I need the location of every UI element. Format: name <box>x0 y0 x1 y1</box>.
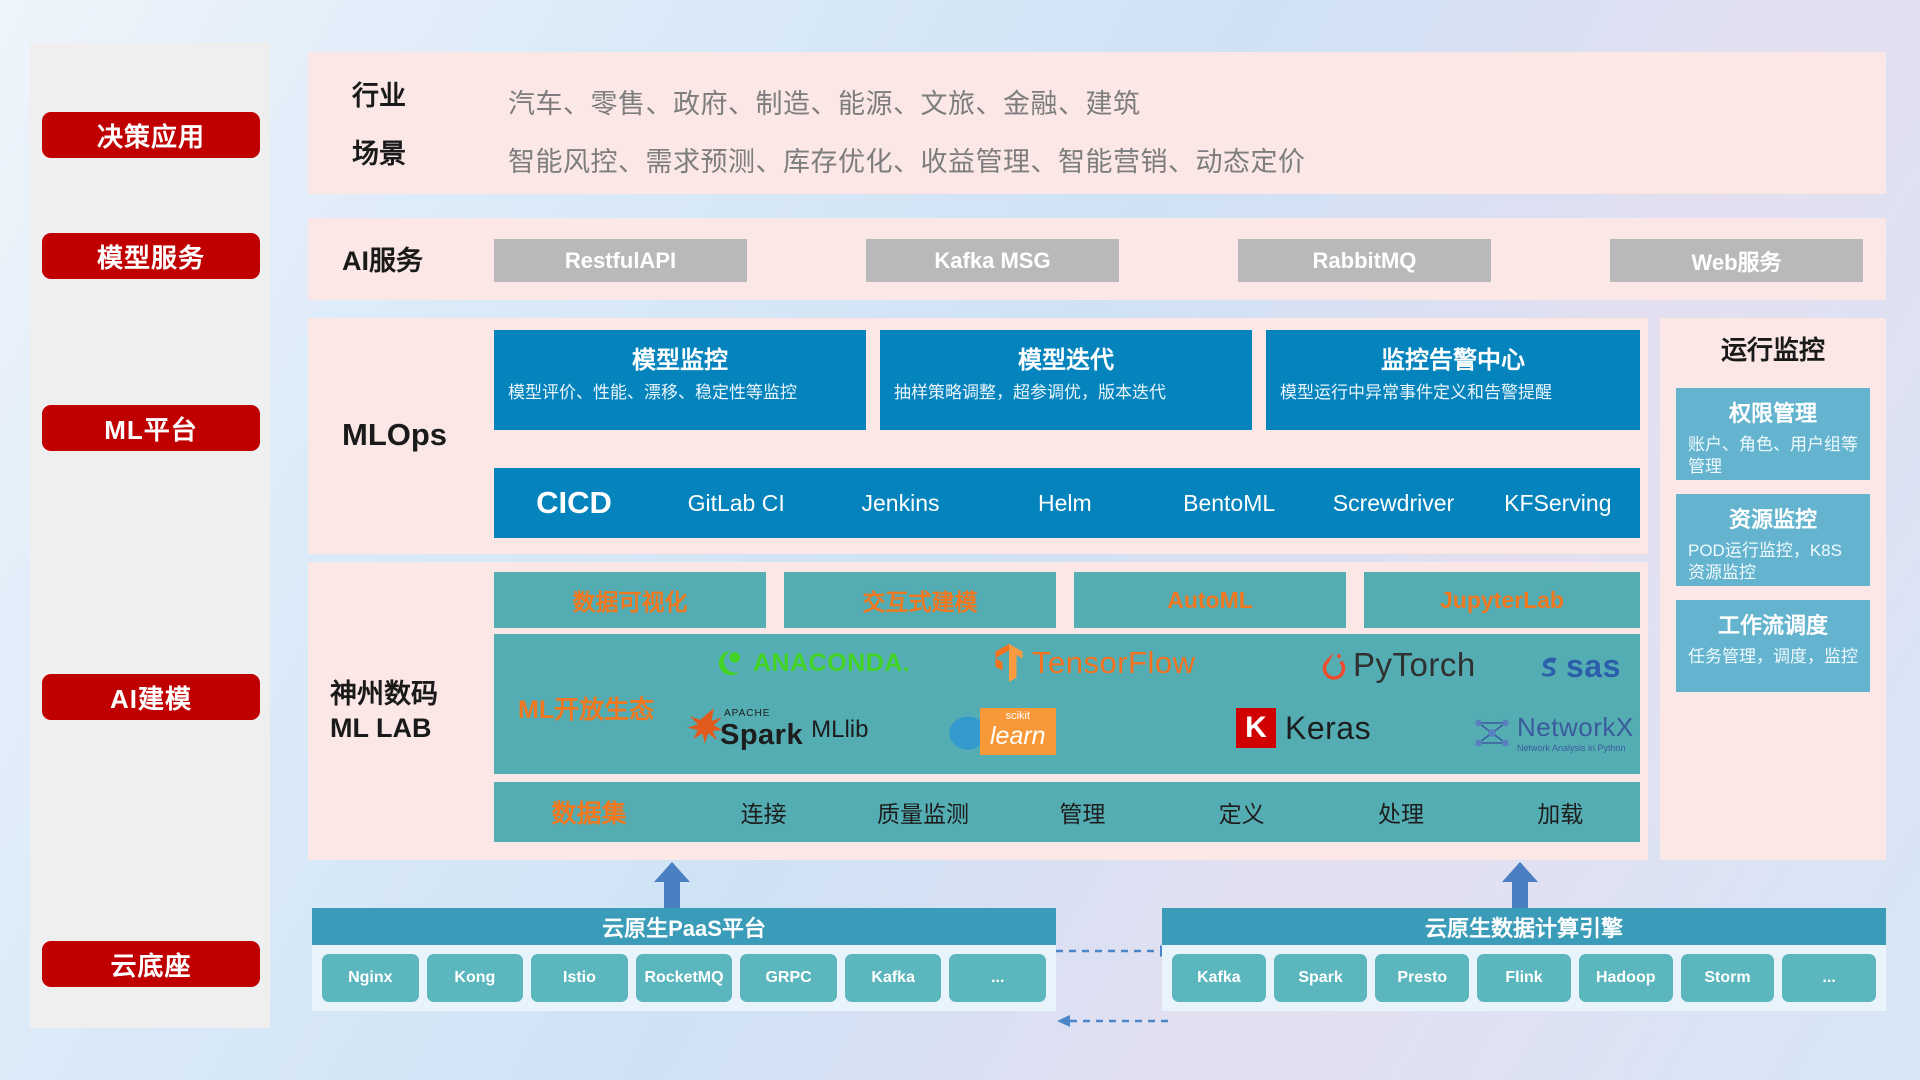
compute-chip-row: Kafka Spark Presto Flink Hadoop Storm ..… <box>1162 945 1886 1011</box>
spark-apache-text: APACHE <box>724 708 803 719</box>
compute-chip-spark[interactable]: Spark <box>1274 954 1368 1002</box>
anaconda-logo: ANACONDA. <box>716 648 910 678</box>
diagram-canvas: 决策应用 模型服务 ML平台 AI建模 云底座 行业 汽车、零售、政府、制造、能… <box>0 0 1920 1080</box>
service-chip-restfulapi[interactable]: RestfulAPI <box>494 239 747 282</box>
service-chip-web-service[interactable]: Web服务 <box>1610 239 1863 282</box>
sas-wordmark: sas <box>1566 648 1621 685</box>
cicd-item-kfserving[interactable]: KFServing <box>1476 491 1640 515</box>
tensorflow-wordmark: TensorFlow <box>1032 645 1196 681</box>
scikit-text: scikit <box>1006 710 1030 722</box>
spark-mllib-logo: APACHE Spark MLlib <box>684 706 868 754</box>
spark-wordmark: Spark <box>720 719 803 752</box>
dashed-arrow-left-icon <box>1056 1014 1174 1028</box>
tab-jupyterlab[interactable]: JupyterLab <box>1364 572 1640 628</box>
cicd-title: CICD <box>494 485 654 521</box>
paas-chip-rocketmq[interactable]: RocketMQ <box>636 954 733 1002</box>
paas-chip-kafka[interactable]: Kafka <box>845 954 942 1002</box>
tensorflow-logo: TensorFlow <box>992 644 1196 682</box>
paas-chip-grpc[interactable]: GRPC <box>740 954 837 1002</box>
paas-chip-nginx[interactable]: Nginx <box>322 954 419 1002</box>
card-desc: 抽样策略调整，超参调优，版本迭代 <box>894 382 1238 404</box>
rail-item-decision-app[interactable]: 决策应用 <box>42 112 260 158</box>
mlops-card-alert-center[interactable]: 监控告警中心 模型运行中异常事件定义和告警提醒 <box>1266 330 1640 430</box>
cicd-item-bentoml[interactable]: BentoML <box>1147 491 1311 515</box>
mlops-label: MLOps <box>342 416 447 455</box>
cicd-bar: CICD GitLab CI Jenkins Helm BentoML Scre… <box>494 468 1640 538</box>
scenario-label: 场景 <box>352 138 406 172</box>
service-chip-rabbitmq[interactable]: RabbitMQ <box>1238 239 1491 282</box>
card-desc: 模型运行中异常事件定义和告警提醒 <box>1280 382 1626 404</box>
networkx-logo: NetworkX Network Analysis in Python <box>1472 712 1634 753</box>
ops-panel-title: 运行监控 <box>1660 330 1886 367</box>
paas-group: 云原生PaaS平台 Nginx Kong Istio RocketMQ GRPC… <box>312 908 1056 1011</box>
rail-item-model-service[interactable]: 模型服务 <box>42 233 260 279</box>
ops-card-resource[interactable]: 资源监控 POD运行监控，K8S资源监控 <box>1676 494 1870 586</box>
networkx-wordmark: NetworkX <box>1517 712 1634 743</box>
paas-title: 云原生PaaS平台 <box>312 908 1056 945</box>
anaconda-icon <box>716 648 746 678</box>
up-arrow-paas-icon <box>652 862 692 908</box>
sas-logo: sas <box>1534 648 1621 685</box>
paas-chip-row: Nginx Kong Istio RocketMQ GRPC Kafka ... <box>312 945 1056 1011</box>
industry-list: 汽车、零售、政府、制造、能源、文旅、金融、建筑 <box>508 82 1141 121</box>
ml-ecosystem-box: ML开放生态 ANACONDA. TensorFlow <box>494 634 1640 774</box>
card-title: 模型监控 <box>508 340 852 375</box>
scikit-learn-logo: scikit learn <box>946 708 1056 755</box>
mlops-card-model-iteration[interactable]: 模型迭代 抽样策略调整，超参调优，版本迭代 <box>880 330 1252 430</box>
compute-chip-hadoop[interactable]: Hadoop <box>1579 954 1673 1002</box>
card-title: 工作流调度 <box>1688 608 1858 640</box>
dataset-item-load[interactable]: 加载 <box>1481 795 1640 829</box>
cicd-item-screwdriver[interactable]: Screwdriver <box>1311 491 1475 515</box>
paas-chip-kong[interactable]: Kong <box>427 954 524 1002</box>
compute-chip-kafka[interactable]: Kafka <box>1172 954 1266 1002</box>
tab-data-visualization[interactable]: 数据可视化 <box>494 572 766 628</box>
tab-automl[interactable]: AutoML <box>1074 572 1346 628</box>
sas-icon <box>1534 652 1564 682</box>
rail-item-cloud-base[interactable]: 云底座 <box>42 941 260 987</box>
card-desc: POD运行监控，K8S资源监控 <box>1688 540 1858 585</box>
mlops-card-model-monitoring[interactable]: 模型监控 模型评价、性能、漂移、稳定性等监控 <box>494 330 866 430</box>
dataset-item-process[interactable]: 处理 <box>1321 795 1480 829</box>
rail-item-ai-modeling[interactable]: AI建模 <box>42 674 260 720</box>
paas-chip-istio[interactable]: Istio <box>531 954 628 1002</box>
keras-wordmark: Keras <box>1285 710 1371 747</box>
cicd-item-gitlab-ci[interactable]: GitLab CI <box>654 491 818 515</box>
compute-chip-flink[interactable]: Flink <box>1477 954 1571 1002</box>
ecosystem-label: ML开放生态 <box>518 690 654 726</box>
card-title: 权限管理 <box>1688 396 1858 428</box>
card-title: 资源监控 <box>1688 502 1858 534</box>
service-chip-kafka-msg[interactable]: Kafka MSG <box>866 239 1119 282</box>
card-desc: 任务管理，调度，监控 <box>1688 646 1858 668</box>
card-desc: 模型评价、性能、漂移、稳定性等监控 <box>508 382 852 404</box>
tensorflow-icon <box>992 644 1026 682</box>
anaconda-wordmark: ANACONDA. <box>753 649 910 678</box>
networkx-icon <box>1472 715 1512 751</box>
ops-card-permission[interactable]: 权限管理 账户、角色、用户组等管理 <box>1676 388 1870 480</box>
dataset-item-connect[interactable]: 连接 <box>684 795 843 829</box>
learn-wordmark: learn <box>990 722 1046 751</box>
pytorch-logo: PyTorch <box>1320 646 1476 684</box>
compute-chip-more[interactable]: ... <box>1782 954 1876 1002</box>
card-title: 模型迭代 <box>894 340 1238 375</box>
rail-item-ml-platform[interactable]: ML平台 <box>42 405 260 451</box>
dataset-bar: 数据集 连接 质量监测 管理 定义 处理 加载 <box>494 782 1640 842</box>
cicd-item-helm[interactable]: Helm <box>983 491 1147 515</box>
compute-chip-presto[interactable]: Presto <box>1375 954 1469 1002</box>
compute-title: 云原生数据计算引擎 <box>1162 908 1886 945</box>
ops-card-workflow[interactable]: 工作流调度 任务管理，调度，监控 <box>1676 600 1870 692</box>
dataset-item-quality[interactable]: 质量监测 <box>843 795 1002 829</box>
compute-group: 云原生数据计算引擎 Kafka Spark Presto Flink Hadoo… <box>1162 908 1886 1011</box>
paas-chip-more[interactable]: ... <box>949 954 1046 1002</box>
scenario-list: 智能风控、需求预测、库存优化、收益管理、智能营销、动态定价 <box>508 140 1306 179</box>
keras-logo: K Keras <box>1236 708 1371 748</box>
compute-chip-storm[interactable]: Storm <box>1681 954 1775 1002</box>
card-title: 监控告警中心 <box>1280 340 1626 375</box>
pytorch-wordmark: PyTorch <box>1353 646 1476 684</box>
ai-service-label: AI服务 <box>342 245 423 279</box>
networkx-tagline: Network Analysis in Python <box>1517 743 1634 753</box>
dashed-arrow-right-icon <box>1056 944 1174 958</box>
up-arrow-compute-icon <box>1500 862 1540 908</box>
tab-interactive-modeling[interactable]: 交互式建模 <box>784 572 1056 628</box>
cicd-item-jenkins[interactable]: Jenkins <box>818 491 982 515</box>
ml-lab-label: 神州数码 ML LAB <box>330 678 438 746</box>
left-rail <box>30 42 270 1028</box>
keras-icon: K <box>1236 708 1276 748</box>
dataset-title: 数据集 <box>494 794 684 830</box>
pytorch-icon <box>1320 649 1348 681</box>
dataset-item-define[interactable]: 定义 <box>1162 795 1321 829</box>
card-desc: 账户、角色、用户组等管理 <box>1688 434 1858 479</box>
industry-label: 行业 <box>352 80 406 114</box>
dataset-item-manage[interactable]: 管理 <box>1003 795 1162 829</box>
mllib-wordmark: MLlib <box>811 716 868 744</box>
